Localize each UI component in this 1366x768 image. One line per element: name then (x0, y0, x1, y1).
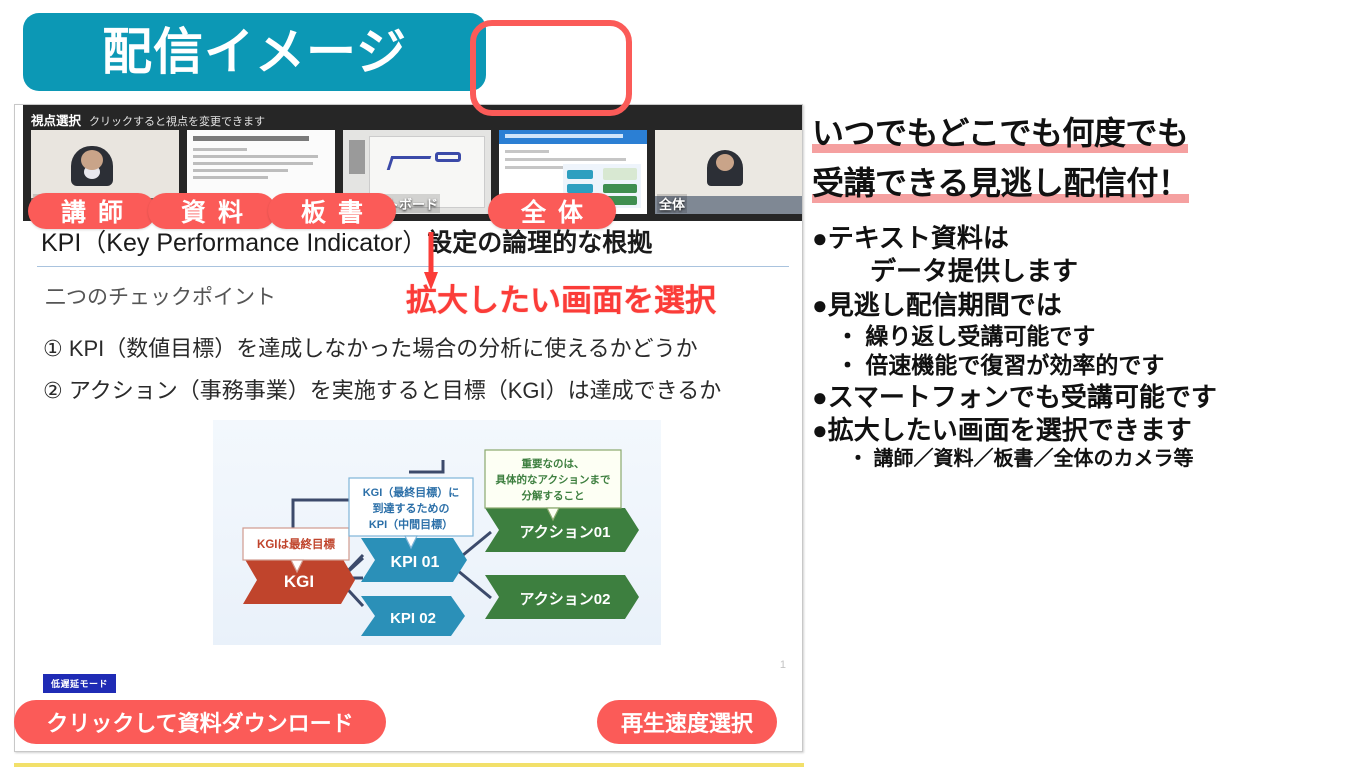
page-title-badge: 配信イメージ (23, 13, 486, 91)
svg-text:KGIは最終目標: KGIは最終目標 (257, 537, 335, 551)
playback-speed-button[interactable]: 再生速度選択 (597, 700, 777, 744)
svg-text:分解すること: 分解すること (522, 489, 585, 502)
svg-text:アクション01: アクション01 (520, 524, 611, 541)
slide-point-1: ① KPI（数値目標）を達成しなかった場合の分析に使えるかどうか (43, 331, 698, 363)
svg-text:KGI（最終目標）に: KGI（最終目標）に (363, 485, 460, 499)
page-title: 配信イメージ (102, 27, 407, 77)
svg-text:到達するための: 到達するための (373, 501, 450, 515)
benefit-item-7: ●拡大したい画面を選択できます (812, 414, 1360, 447)
benefit-item-6: ●スマートフォンでも受講可能です (812, 381, 1360, 414)
slide-point-2: ② アクション（事務事業）を実施すると目標（KGI）は達成できるか (43, 373, 721, 405)
slide-title-jp: 設定の論理的な根拠 (427, 229, 652, 257)
benefit-list: ●テキスト資料は データ提供します ●見逃し配信期間では ・ 繰り返し受講可能で… (812, 222, 1360, 473)
thumbnail-whole[interactable]: 全体 (655, 130, 803, 214)
svg-text:KPI 02: KPI 02 (390, 610, 436, 627)
diagram-node-kpi01: KPI 01 (361, 538, 467, 582)
svg-text:KPI（中間目標）: KPI（中間目標） (369, 517, 453, 531)
viewpoint-label-document[interactable]: 資料 (148, 193, 276, 229)
diagram-callout-kpi-note: KGI（最終目標）に 到達するための KPI（中間目標） (349, 478, 473, 548)
viewpoint-strip-hint: クリックすると視点を変更できます (89, 113, 265, 129)
viewpoint-label-whiteboard[interactable]: 板書 (268, 193, 396, 229)
headline-row-1: いつでもどこでも何度でも (812, 108, 1188, 154)
selected-viewpoint-highlight (470, 20, 632, 116)
slide-title-en: KPI（Key Performance Indicator） (41, 229, 427, 257)
benefit-item-1: ●テキスト資料は (812, 222, 1360, 255)
thumbnail-caption: 全体 (657, 194, 687, 213)
viewpoint-label-teacher[interactable]: 講師 (28, 193, 156, 229)
benefit-item-2: データ提供します (812, 255, 1360, 288)
footer-accent-line (14, 763, 804, 767)
benefit-item-4: ・ 繰り返し受講可能です (812, 322, 1360, 351)
diagram-node-action02: アクション02 (485, 575, 639, 619)
svg-text:KGI: KGI (284, 572, 314, 591)
benefit-item-8: ・ 講師／資料／板書／全体のカメラ等 (812, 447, 1360, 473)
viewpoint-label-whole[interactable]: 全体 (488, 193, 616, 229)
slide-page-number: 1 (780, 659, 786, 671)
benefit-item-5: ・ 倍速機能で復習が効率的です (812, 351, 1360, 380)
slide-subheading: 二つのチェックポイント (45, 281, 276, 311)
benefit-item-3: ●見逃し配信期間では (812, 289, 1360, 322)
annotation-label: 拡大したい画面を選択 (406, 275, 716, 320)
viewpoint-strip-title: 視点選択 (31, 110, 81, 129)
slide-root: 配信イメージ 視点選択 クリックすると視点を変更できます 講師 (0, 0, 1366, 768)
headline-row-2: 受講できる見逃し配信付！ (812, 158, 1189, 204)
headline-text-2: 受講できる見逃し配信付！ (812, 165, 1189, 201)
kpi-kgi-diagram: KGI KGIは最終目標 KPI 01 KPI 02 (213, 420, 661, 645)
svg-text:重要なのは、: 重要なのは、 (522, 457, 585, 470)
download-materials-button[interactable]: クリックして資料ダウンロード (14, 700, 386, 744)
svg-text:KPI 01: KPI 01 (391, 554, 440, 571)
viewpoint-strip-header: 視点選択 クリックすると視点を変更できます (31, 110, 265, 129)
diagram-node-kpi02: KPI 02 (361, 596, 465, 636)
slide-divider (37, 266, 789, 267)
diagram-node-action01: アクション01 (485, 508, 639, 552)
svg-text:アクション02: アクション02 (520, 591, 611, 608)
low-latency-badge: 低遅延モード (43, 674, 116, 693)
svg-text:具体的なアクションまで: 具体的なアクションまで (495, 473, 611, 486)
headline-text-1: いつでもどこでも何度でも (812, 115, 1188, 151)
right-info-panel: いつでもどこでも何度でも 受講できる見逃し配信付！ ●テキスト資料は データ提供… (812, 108, 1360, 473)
